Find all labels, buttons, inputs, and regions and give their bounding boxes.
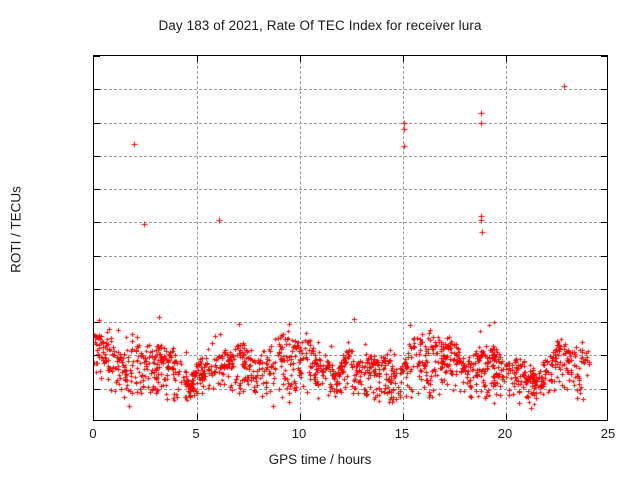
gridline-horizontal (94, 289, 607, 290)
gridline-horizontal (94, 322, 607, 323)
y-tick (94, 189, 100, 190)
gridline-horizontal (94, 222, 607, 223)
y-axis-label: ROTI / TECUs (9, 150, 24, 310)
gridline-horizontal (94, 389, 607, 390)
x-tick-label: 25 (578, 426, 638, 441)
y-tick (601, 256, 607, 257)
y-tick (94, 56, 100, 57)
y-tick (94, 389, 100, 390)
y-tick (601, 389, 607, 390)
x-tick-label: 0 (63, 426, 123, 441)
gridline-horizontal (94, 123, 607, 124)
gridline-horizontal (94, 189, 607, 190)
scatter-points (94, 56, 609, 422)
gridline-horizontal (94, 89, 607, 90)
y-tick (601, 89, 607, 90)
x-tick (197, 56, 198, 62)
x-tick-label: 20 (475, 426, 535, 441)
chart-title: Day 183 of 2021, Rate Of TEC Index for r… (0, 18, 640, 33)
y-tick (94, 256, 100, 257)
y-tick (94, 322, 100, 323)
gridline-horizontal (94, 355, 607, 356)
x-tick (506, 56, 507, 62)
y-tick (94, 123, 100, 124)
gridline-vertical (197, 56, 198, 420)
x-tick (403, 56, 404, 62)
plot-area (93, 55, 608, 421)
y-tick (94, 89, 100, 90)
y-tick (601, 322, 607, 323)
gridline-horizontal (94, 156, 607, 157)
y-tick (601, 222, 607, 223)
x-tick-label: 5 (166, 426, 226, 441)
x-tick (197, 414, 198, 420)
gridline-vertical (300, 56, 301, 420)
gridline-vertical (403, 56, 404, 420)
gridline-horizontal (94, 256, 607, 257)
y-tick (94, 156, 100, 157)
x-axis-label: GPS time / hours (0, 452, 640, 467)
y-tick (94, 289, 100, 290)
x-tick (300, 56, 301, 62)
x-tick-label: 15 (372, 426, 432, 441)
y-tick (601, 156, 607, 157)
y-tick (601, 289, 607, 290)
y-tick (601, 123, 607, 124)
x-tick-label: 10 (269, 426, 329, 441)
y-tick (94, 355, 100, 356)
chart-figure: Day 183 of 2021, Rate Of TEC Index for r… (0, 0, 640, 480)
y-tick (601, 189, 607, 190)
gridline-vertical (506, 56, 507, 420)
y-tick (601, 355, 607, 356)
x-tick (506, 414, 507, 420)
scatter-canvas (94, 56, 609, 422)
y-tick (94, 222, 100, 223)
x-tick (300, 414, 301, 420)
y-tick (601, 56, 607, 57)
x-tick (403, 414, 404, 420)
